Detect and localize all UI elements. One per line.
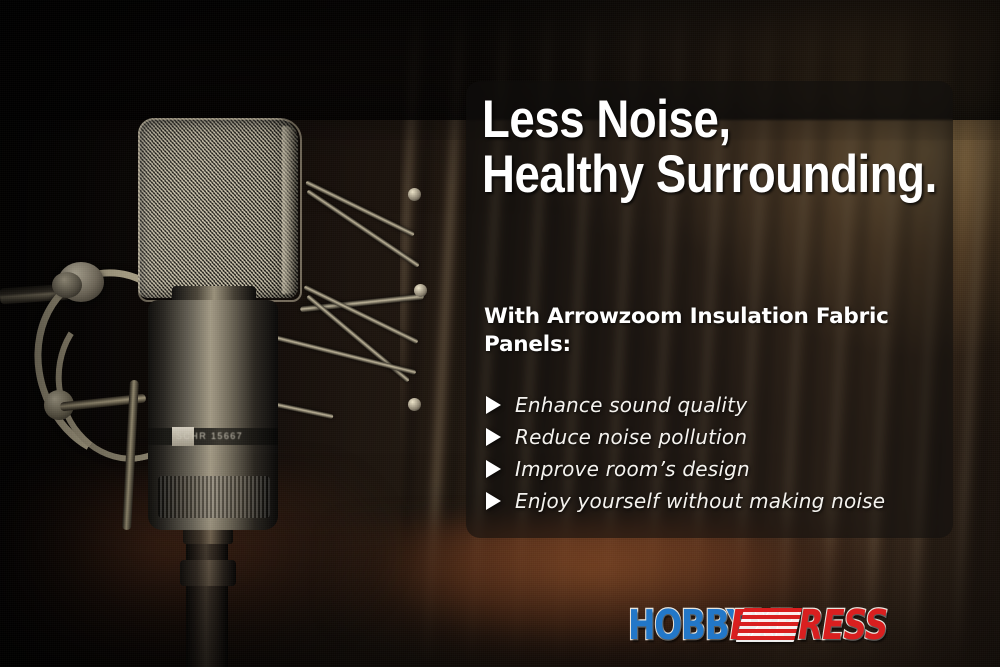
list-item-label: Improve room’s design: [515, 454, 750, 484]
brand-logo: HOBBY EXPRESS: [628, 598, 968, 652]
logo-speed-lines-icon: [736, 608, 802, 642]
headline: Less Noise, Healthy Surrounding.: [482, 92, 886, 202]
list-item: Enjoy yourself without making noise: [486, 486, 946, 516]
triangle-bullet-icon: [486, 428, 501, 446]
list-item-label: Enjoy yourself without making noise: [515, 486, 885, 516]
triangle-bullet-icon: [486, 396, 501, 414]
benefits-list: Enhance sound quality Reduce noise pollu…: [486, 390, 946, 518]
headline-line-1: Less Noise,: [482, 92, 886, 147]
list-item: Reduce noise pollution: [486, 422, 946, 452]
banner-image: SCHR 15667 Less Noise, Healthy Surroundi…: [0, 0, 1000, 667]
subheadline: With Arrowzoom Insulation Fabric Panels:: [484, 303, 936, 359]
triangle-bullet-icon: [486, 492, 501, 510]
triangle-bullet-icon: [486, 460, 501, 478]
headline-line-2: Healthy Surrounding.: [482, 147, 886, 202]
list-item: Improve room’s design: [486, 454, 946, 484]
list-item-label: Enhance sound quality: [515, 390, 747, 420]
list-item-label: Reduce noise pollution: [515, 422, 747, 452]
list-item: Enhance sound quality: [486, 390, 946, 420]
